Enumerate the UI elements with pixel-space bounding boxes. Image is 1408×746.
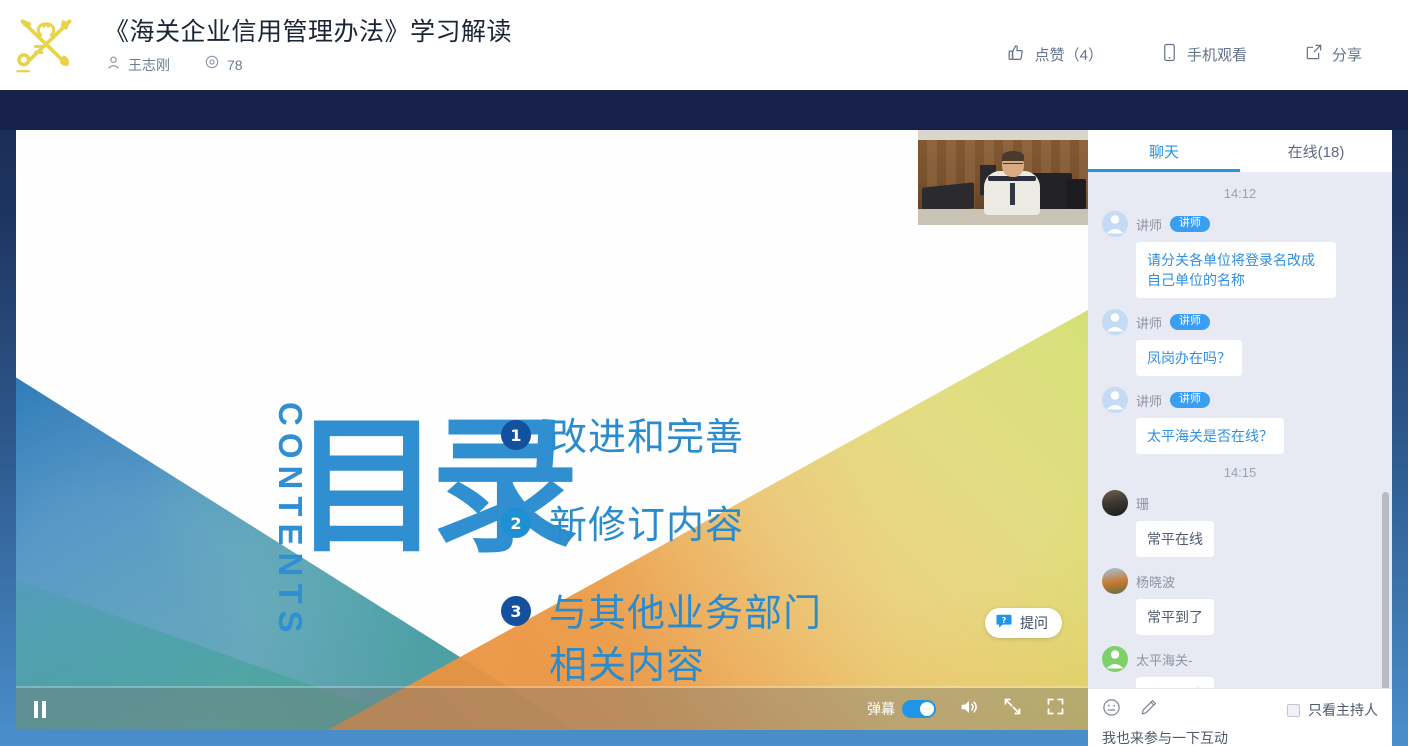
- chat-time-separator: 14:15: [1102, 465, 1378, 480]
- page-header: 《海关企业信用管理办法》学习解读 王志刚 78: [0, 0, 1408, 90]
- chat-bubble: 常平在线: [1136, 521, 1214, 557]
- chat-role-badge: 讲师: [1170, 216, 1210, 232]
- chat-footer-icons: [1102, 698, 1158, 722]
- avatar[interactable]: [1102, 490, 1128, 516]
- slide-toc-text-line1: 与其他业务部门: [549, 588, 822, 640]
- slide-toc-number: 3: [501, 596, 531, 626]
- fullscreen-icon[interactable]: [1045, 696, 1066, 722]
- chat-role-badge: 讲师: [1170, 314, 1210, 330]
- chat-message: 太平海关- 太平在线: [1102, 646, 1378, 688]
- svg-text:?: ?: [1002, 615, 1007, 625]
- pip-ceiling: [918, 130, 1088, 140]
- view-count-info: 78: [204, 54, 243, 75]
- host-only-label: 只看主持人: [1308, 700, 1378, 720]
- share-button[interactable]: 分享: [1295, 37, 1372, 71]
- emoji-icon[interactable]: [1102, 698, 1121, 722]
- pip-monitor-second: [1066, 179, 1086, 209]
- mobile-watch-button[interactable]: 手机观看: [1151, 37, 1257, 72]
- chat-time-separator: 14:12: [1102, 186, 1378, 201]
- like-button[interactable]: 点赞（4）: [997, 37, 1113, 72]
- chat-bubble: 凤岗办在吗？: [1136, 340, 1242, 376]
- chat-input[interactable]: [1102, 730, 1378, 746]
- avatar[interactable]: [1102, 309, 1128, 335]
- slide-toc-item: 2 新修订内容: [501, 500, 822, 552]
- pencil-icon[interactable]: [1139, 698, 1158, 722]
- pip-person-glasses: [1003, 163, 1023, 167]
- chat-role-badge: 讲师: [1170, 392, 1210, 408]
- video-control-bar: 弹幕: [16, 688, 1088, 730]
- page-title: 《海关企业信用管理办法》学习解读: [104, 15, 512, 49]
- question-bubble-icon: ?: [995, 612, 1013, 635]
- chat-sender-name: 讲师: [1136, 215, 1162, 234]
- chat-message-header: 讲师 讲师: [1102, 309, 1378, 335]
- pause-icon-bar-1: [34, 701, 38, 718]
- slide-toc-item: 3 与其他业务部门 相关内容: [501, 588, 822, 692]
- video-stage[interactable]: CONTENTS 目录 1 改进和完善 2 新修订内容 3 与其他业务部门 相关…: [16, 130, 1088, 730]
- slide-toc-text-multiline: 与其他业务部门 相关内容: [549, 588, 822, 692]
- chat-message: 杨晓波 常平到了: [1102, 568, 1378, 635]
- presenter-info: 王志刚: [106, 55, 170, 75]
- ask-question-button[interactable]: ? 提问: [985, 608, 1062, 638]
- chat-bubble: 常平到了: [1136, 599, 1214, 635]
- pause-button[interactable]: [34, 701, 46, 718]
- slide-toc-text: 新修订内容: [549, 500, 744, 552]
- avatar[interactable]: [1102, 211, 1128, 237]
- pip-person-hair: [1002, 151, 1024, 161]
- customs-logo: [0, 0, 92, 90]
- default-user-glyph: [1102, 211, 1128, 237]
- mobile-phone-icon: [1161, 43, 1178, 66]
- chat-bubble: 太平海关是否在线？: [1136, 418, 1284, 454]
- chat-sender-name: 讲师: [1136, 391, 1162, 410]
- chat-message: 讲师 讲师 太平海关是否在线？: [1102, 387, 1378, 454]
- chat-sender-name: 珊: [1136, 494, 1149, 513]
- eye-icon: [204, 54, 220, 75]
- chat-sender-name: 太平海关-: [1136, 650, 1192, 669]
- slide-toc-number: 2: [501, 508, 531, 538]
- chat-message: 珊 常平在线: [1102, 490, 1378, 557]
- slide-toc-number: 1: [501, 420, 531, 450]
- danmaku-toggle-knob: [920, 702, 934, 716]
- share-button-label: 分享: [1332, 44, 1362, 65]
- speaker-camera-pip[interactable]: [918, 130, 1088, 225]
- danmaku-label: 弹幕: [867, 699, 895, 719]
- header-actions: 点赞（4） 手机观看 分享: [997, 19, 1408, 72]
- chat-tab-bar: 聊天 在线(18): [1088, 130, 1392, 172]
- default-user-glyph: [1102, 387, 1128, 413]
- header-divider-strip: [0, 90, 1408, 130]
- host-only-checkbox[interactable]: [1287, 704, 1300, 717]
- slide-toc-text: 改进和完善: [549, 412, 744, 464]
- default-user-glyph: [1102, 646, 1128, 672]
- chat-sender-name: 讲师: [1136, 313, 1162, 332]
- pip-person-tie: [1010, 183, 1015, 205]
- volume-icon[interactable]: [958, 696, 980, 723]
- meta-row: 王志刚 78: [104, 54, 512, 75]
- default-user-glyph: [1102, 309, 1128, 335]
- slide-toc-text-line2: 相关内容: [549, 640, 822, 692]
- chat-message-header: 太平海关-: [1102, 646, 1378, 672]
- chat-panel: 聊天 在线(18) 14:12 讲师 讲师 请分关各单位将登录名改成自己单位的名…: [1088, 130, 1392, 746]
- host-only-checkbox-group[interactable]: 只看主持人: [1287, 700, 1378, 720]
- chat-message-list[interactable]: 14:12 讲师 讲师 请分关各单位将登录名改成自己单位的名称: [1088, 172, 1392, 688]
- title-block: 《海关企业信用管理办法》学习解读 王志刚 78: [92, 15, 512, 75]
- thumbs-up-icon: [1007, 43, 1026, 66]
- chat-scrollbar-thumb[interactable]: [1382, 492, 1389, 688]
- chat-sender-name: 杨晓波: [1136, 572, 1175, 591]
- tab-online[interactable]: 在线(18): [1240, 130, 1392, 172]
- mobile-watch-label: 手机观看: [1187, 44, 1247, 65]
- chat-message: 讲师 讲师 凤岗办在吗？: [1102, 309, 1378, 376]
- customs-emblem-icon: [9, 14, 83, 76]
- slide-toc-list: 1 改进和完善 2 新修订内容 3 与其他业务部门 相关内容: [501, 412, 822, 728]
- danmaku-toggle-group[interactable]: 弹幕: [867, 699, 936, 719]
- chat-footer-toolbar: 只看主持人: [1102, 698, 1378, 722]
- chat-bubble: 请分关各单位将登录名改成自己单位的名称: [1136, 242, 1336, 298]
- chat-message-header: 杨晓波: [1102, 568, 1378, 594]
- ask-question-label: 提问: [1020, 613, 1048, 633]
- share-icon: [1305, 43, 1323, 65]
- pause-icon-bar-2: [42, 701, 46, 718]
- control-right-group: 弹幕: [867, 696, 1066, 723]
- presenter-name: 王志刚: [128, 55, 170, 75]
- chat-message: 讲师 讲师 请分关各单位将登录名改成自己单位的名称: [1102, 211, 1378, 298]
- chat-message-header: 珊: [1102, 490, 1378, 516]
- avatar[interactable]: [1102, 387, 1128, 413]
- tab-chat[interactable]: 聊天: [1088, 130, 1240, 172]
- like-button-label: 点赞（4）: [1035, 44, 1103, 65]
- control-left-group: [34, 701, 46, 718]
- avatar[interactable]: [1102, 568, 1128, 594]
- avatar[interactable]: [1102, 646, 1128, 672]
- chat-footer: 只看主持人: [1088, 688, 1392, 746]
- user-icon: [106, 55, 121, 75]
- danmaku-toggle[interactable]: [902, 700, 936, 718]
- chat-bubble: 太平在线: [1136, 677, 1214, 688]
- chat-message-header: 讲师 讲师: [1102, 211, 1378, 237]
- slide-toc-item: 1 改进和完善: [501, 412, 822, 464]
- web-fullscreen-icon[interactable]: [1002, 696, 1023, 722]
- chat-message-header: 讲师 讲师: [1102, 387, 1378, 413]
- view-count: 78: [227, 57, 243, 73]
